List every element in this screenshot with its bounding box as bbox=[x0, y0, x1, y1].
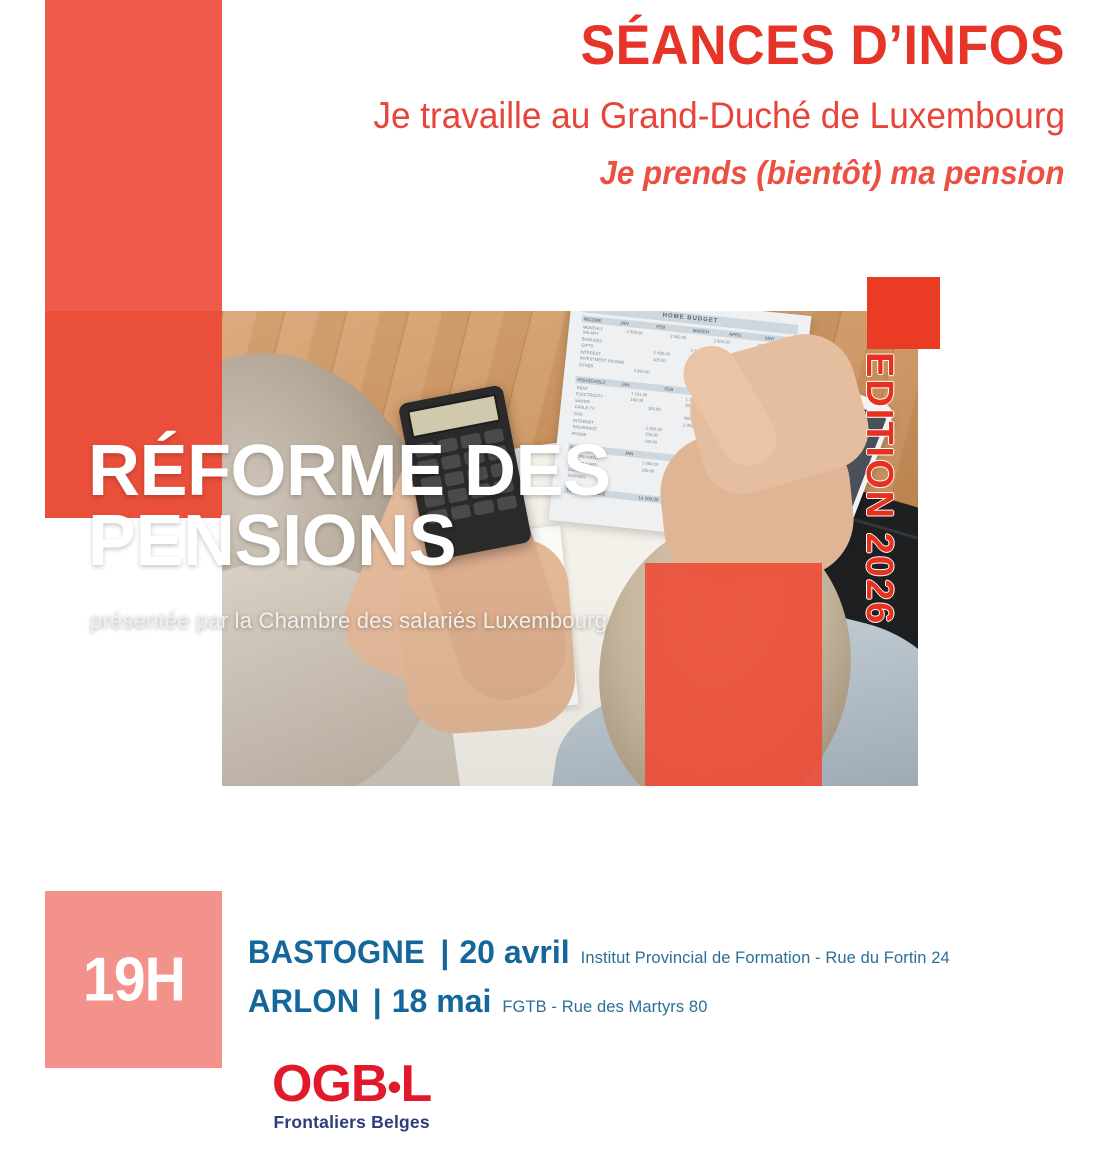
logo-name-part-1: OGB bbox=[272, 1055, 387, 1113]
hero-title: RÉFORME DES PENSIONS bbox=[88, 437, 611, 577]
session-separator: | bbox=[373, 983, 382, 1020]
time-badge: 19H bbox=[45, 891, 222, 1068]
session-venue: FGTB - Rue des Martyrs 80 bbox=[502, 998, 707, 1017]
session-date: 18 mai bbox=[392, 983, 492, 1020]
logo-name-part-2: L bbox=[400, 1055, 431, 1113]
logo-wordmark: OGB•L bbox=[272, 1058, 431, 1110]
logo-tagline: Frontaliers Belges bbox=[272, 1112, 431, 1133]
hero-title-line-2: PENSIONS bbox=[88, 507, 611, 577]
list-item: ARLON | 18 mai FGTB - Rue des Martyrs 80 bbox=[248, 983, 1068, 1020]
logo-dot-icon: • bbox=[387, 1065, 400, 1109]
ogbl-logo: OGB•L Frontaliers Belges bbox=[272, 1058, 431, 1133]
sessions-list: BASTOGNE | 20 avril Institut Provincial … bbox=[248, 934, 1068, 1032]
session-date: 20 avril bbox=[459, 934, 569, 971]
session-separator: | bbox=[440, 934, 449, 971]
hero-presented-by: présentée par la Chambre des salariés Lu… bbox=[90, 608, 607, 634]
edition-label: EDITION 2026 bbox=[857, 352, 900, 625]
header-subtitle-secondary: Je prends (bientôt) ma pension bbox=[600, 155, 1065, 191]
poster-root: SÉANCES D’INFOS Je travaille au Grand-Du… bbox=[0, 0, 1109, 1154]
session-city: BASTOGNE bbox=[248, 934, 425, 971]
header-subtitle-primary: Je travaille au Grand-Duché de Luxembour… bbox=[373, 96, 1065, 137]
page-title: SÉANCES D’INFOS bbox=[581, 16, 1065, 75]
session-venue: Institut Provincial de Formation - Rue d… bbox=[581, 949, 950, 968]
hero-title-line-1: RÉFORME DES bbox=[88, 431, 611, 511]
session-city: ARLON bbox=[248, 983, 359, 1020]
time-badge-label: 19H bbox=[83, 944, 185, 1015]
decorative-left-coral-bar bbox=[45, 0, 222, 311]
decorative-red-square-top-right bbox=[867, 277, 940, 349]
decorative-red-rect-center bbox=[645, 563, 822, 786]
list-item: BASTOGNE | 20 avril Institut Provincial … bbox=[248, 934, 1068, 971]
